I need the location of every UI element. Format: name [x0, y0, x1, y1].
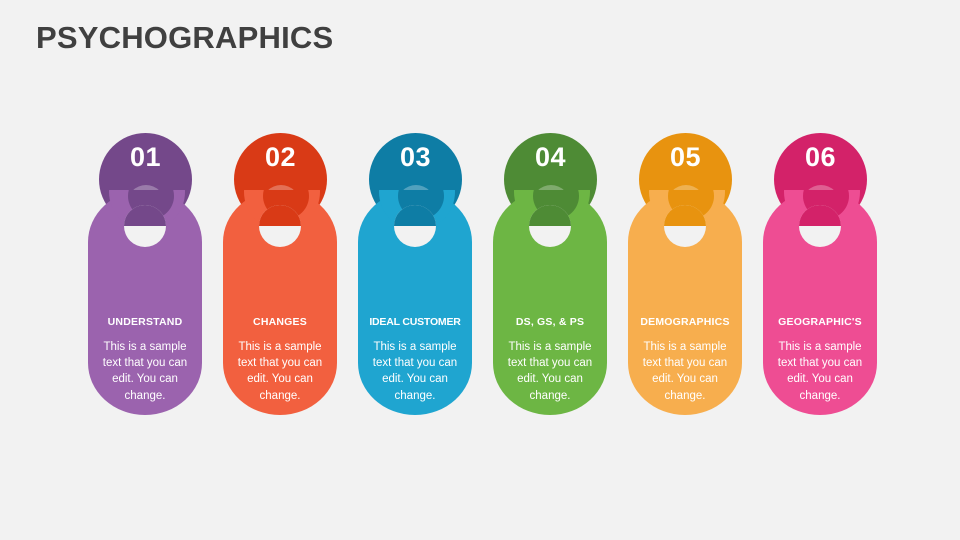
tag-card-06[interactable]: 06GEOGRAPHIC'SThis is a sample text that…	[753, 133, 888, 415]
card-number: 04	[504, 144, 597, 171]
card-title: DEMOGRAPHICS	[635, 316, 735, 329]
tag-card-05[interactable]: 05DEMOGRAPHICSThis is a sample text that…	[618, 133, 753, 415]
card-description: This is a sample text that you can edit.…	[635, 339, 735, 404]
card-number: 03	[369, 144, 462, 171]
card-row: 01UNDERSTANDThis is a sample text that y…	[0, 0, 960, 540]
card-content: GEOGRAPHIC'SThis is a sample text that y…	[763, 316, 877, 404]
card-description: This is a sample text that you can edit.…	[95, 339, 195, 404]
card-content: DEMOGRAPHICSThis is a sample text that y…	[628, 316, 742, 404]
tag-card-01[interactable]: 01UNDERSTANDThis is a sample text that y…	[78, 133, 213, 415]
card-title: GEOGRAPHIC'S	[770, 316, 870, 329]
card-content: IDEAL CUSTOMERThis is a sample text that…	[358, 316, 472, 404]
card-content: CHANGESThis is a sample text that you ca…	[223, 316, 337, 404]
card-number: 02	[234, 144, 327, 171]
tag-card-04[interactable]: 04DS, GS, & PSThis is a sample text that…	[483, 133, 618, 415]
card-content: UNDERSTANDThis is a sample text that you…	[88, 316, 202, 404]
card-number: 06	[774, 144, 867, 171]
card-number: 01	[99, 144, 192, 171]
card-title: CHANGES	[230, 316, 330, 329]
card-title: DS, GS, & PS	[500, 316, 600, 329]
card-title: IDEAL CUSTOMER	[365, 316, 465, 329]
card-number: 05	[639, 144, 732, 171]
card-description: This is a sample text that you can edit.…	[500, 339, 600, 404]
tag-card-03[interactable]: 03IDEAL CUSTOMERThis is a sample text th…	[348, 133, 483, 415]
slide-canvas: PSYCHOGRAPHICS 01UNDERSTANDThis is a sam…	[0, 0, 960, 540]
tag-card-02[interactable]: 02CHANGESThis is a sample text that you …	[213, 133, 348, 415]
card-description: This is a sample text that you can edit.…	[230, 339, 330, 404]
card-title: UNDERSTAND	[95, 316, 195, 329]
card-description: This is a sample text that you can edit.…	[770, 339, 870, 404]
card-description: This is a sample text that you can edit.…	[365, 339, 465, 404]
card-content: DS, GS, & PSThis is a sample text that y…	[493, 316, 607, 404]
